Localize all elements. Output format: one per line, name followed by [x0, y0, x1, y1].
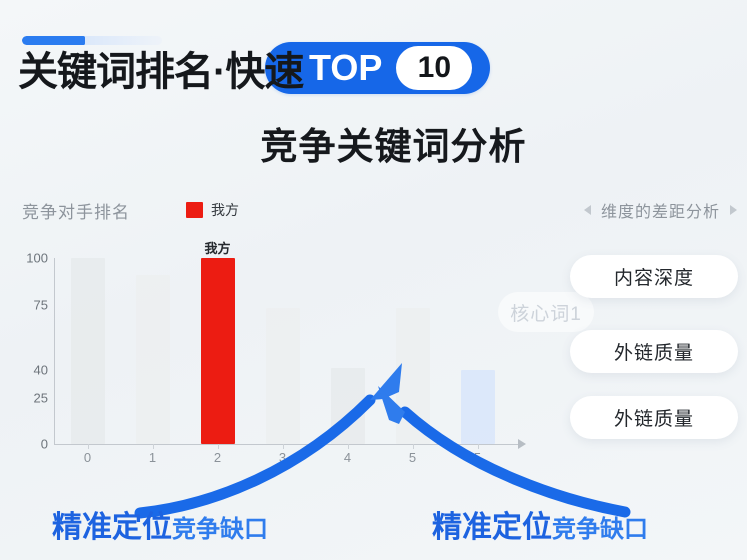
headline-text: 关键词排名·快速	[18, 52, 303, 92]
y-axis-tick: 100	[26, 251, 48, 266]
ghost-pill-keyword: 核心词1	[498, 292, 594, 332]
plot-area: 我方	[55, 258, 510, 444]
x-axis-tick: 5	[474, 450, 481, 465]
x-axis-tick: 4	[344, 450, 351, 465]
y-axis-tick: 25	[34, 390, 48, 405]
top-badge-number: 10	[396, 46, 472, 90]
caption-left-strong: 精准定位	[52, 502, 172, 546]
caption-right: 精准定位 竞争缺口	[432, 502, 648, 546]
x-axis-tickmark	[153, 444, 154, 449]
x-axis-tick: 0	[84, 450, 91, 465]
bar-mine-label: 我方	[204, 238, 230, 257]
caption-right-soft: 竞争缺口	[552, 509, 648, 544]
dimension-pill-2[interactable]: 外链质量	[570, 396, 738, 439]
bar-chart: 1007540250 我方 0123455	[10, 248, 510, 468]
x-axis-tick: 2	[214, 450, 221, 465]
chevron-left-icon[interactable]	[584, 205, 591, 215]
dimension-pill-0[interactable]: 内容深度	[570, 255, 738, 298]
page-subtitle: 竞争关键词分析	[0, 116, 747, 170]
caption-right-strong: 精准定位	[432, 502, 552, 546]
legend-label: 我方	[211, 200, 239, 220]
x-axis-tick: 3	[279, 450, 286, 465]
y-axis-tick: 0	[41, 437, 48, 452]
caption-left-soft: 竞争缺口	[172, 509, 268, 544]
dimension-gap-header: 维度的差距分析	[584, 198, 737, 222]
x-axis-arrow-icon	[518, 439, 526, 449]
dimension-gap-title: 维度的差距分析	[601, 198, 720, 222]
bar-competitor	[396, 308, 430, 444]
caption-left: 精准定位 竞争缺口	[52, 502, 268, 546]
chart-legend: 我方	[186, 200, 239, 220]
legend-swatch-icon	[186, 202, 203, 218]
x-axis-tickmark	[283, 444, 284, 449]
bar-competitor	[71, 258, 105, 444]
x-axis-tickmark	[88, 444, 89, 449]
top-badge-pill-label: TOP	[309, 50, 382, 86]
bar-mine	[201, 258, 235, 444]
chevron-right-icon[interactable]	[730, 205, 737, 215]
headline: 关键词排名·快速	[18, 44, 303, 100]
x-axis-tickmark	[478, 444, 479, 449]
x-axis-tick: 5	[409, 450, 416, 465]
x-axis-tickmark	[348, 444, 349, 449]
x-axis-line	[54, 444, 520, 445]
y-axis-tick: 75	[34, 297, 48, 312]
x-axis-tickmark	[218, 444, 219, 449]
x-axis-tick: 1	[149, 450, 156, 465]
bar-competitor	[266, 308, 300, 444]
x-axis-tickmark	[413, 444, 414, 449]
bar-target	[461, 370, 495, 444]
bar-competitor	[136, 275, 170, 444]
y-axis: 1007540250	[10, 248, 54, 444]
slide-canvas: TOP 10 关键词排名·快速 竞争关键词分析 竞争对手排名 我方 维度的差距分…	[0, 0, 747, 560]
dimension-pill-1[interactable]: 外链质量	[570, 330, 738, 373]
bar-competitor	[331, 368, 365, 444]
y-axis-tick: 40	[34, 362, 48, 377]
chart-caption: 竞争对手排名	[22, 198, 130, 223]
